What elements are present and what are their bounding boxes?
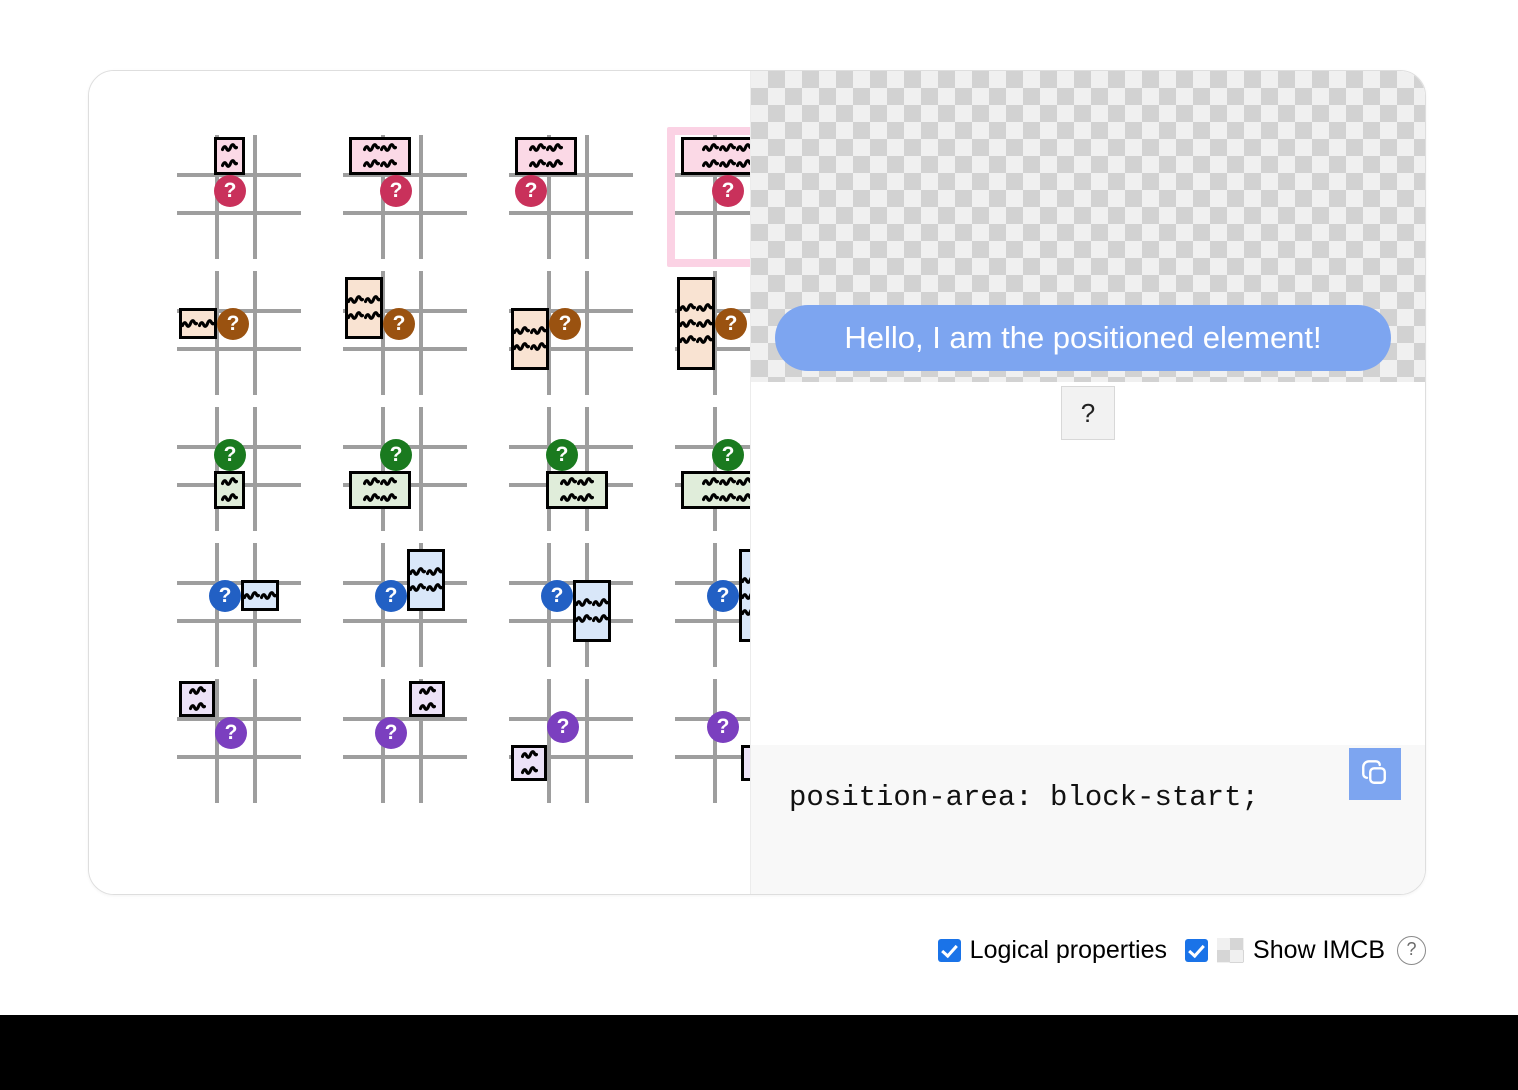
position-area-option-block-start-inline-end[interactable]: ? bbox=[329, 673, 495, 809]
preview-pane: Hello, I am the positioned element! ? po… bbox=[750, 71, 1426, 894]
option-anchor-marker: ? bbox=[707, 711, 739, 743]
option-anchor-marker: ? bbox=[515, 175, 547, 207]
option-thumbnail[interactable]: ? bbox=[509, 135, 633, 259]
anchor-element[interactable]: ? bbox=[1061, 386, 1115, 440]
option-positioned-box bbox=[345, 277, 383, 339]
option-thumbnail[interactable]: ? bbox=[343, 543, 467, 667]
option-anchor-marker: ? bbox=[707, 580, 739, 612]
code-output-area: position-area: block-start; bbox=[751, 745, 1426, 894]
position-area-option-block-start-center[interactable]: ? bbox=[329, 129, 495, 265]
position-area-option-block-end-inline-start[interactable]: ? bbox=[495, 673, 661, 809]
option-thumbnail[interactable]: ? bbox=[177, 407, 301, 531]
option-positioned-box bbox=[214, 137, 245, 175]
logical-properties-checkbox[interactable] bbox=[938, 939, 961, 962]
position-area-option-block-end-span-x-end[interactable]: ? bbox=[495, 401, 661, 537]
option-thumbnail[interactable]: ? bbox=[343, 135, 467, 259]
option-thumbnail[interactable]: ? bbox=[177, 543, 301, 667]
option-anchor-marker: ? bbox=[383, 308, 415, 340]
position-area-visualizer-card: ???????????????????? Hello, I am the pos… bbox=[88, 70, 1426, 895]
option-positioned-box bbox=[573, 580, 611, 642]
option-thumbnail[interactable]: ? bbox=[177, 135, 301, 259]
option-anchor-marker: ? bbox=[215, 717, 247, 749]
show-imcb-checkbox[interactable] bbox=[1185, 939, 1208, 962]
position-area-option-block-start-inline-start[interactable]: ? bbox=[163, 673, 329, 809]
position-area-option-block-end-span-x-start[interactable]: ? bbox=[163, 401, 329, 537]
option-anchor-marker: ? bbox=[214, 439, 246, 471]
option-positioned-box bbox=[214, 471, 245, 509]
option-anchor-marker: ? bbox=[712, 439, 744, 471]
option-anchor-marker: ? bbox=[546, 439, 578, 471]
option-anchor-marker: ? bbox=[712, 175, 744, 207]
option-positioned-box bbox=[677, 277, 715, 370]
option-anchor-marker: ? bbox=[375, 580, 407, 612]
position-area-option-block-start-span-x-start[interactable]: ? bbox=[163, 129, 329, 265]
option-thumbnail[interactable]: ? bbox=[343, 679, 467, 803]
position-area-option-block-end-center[interactable]: ? bbox=[329, 401, 495, 537]
position-area-option-inline-end-span-y-start[interactable]: ? bbox=[163, 537, 329, 673]
positioned-element: Hello, I am the positioned element! bbox=[775, 305, 1391, 371]
position-area-option-block-start-span-x-end[interactable]: ? bbox=[495, 129, 661, 265]
option-thumbnail[interactable]: ? bbox=[177, 271, 301, 395]
show-imcb-label: Show IMCB bbox=[1253, 936, 1385, 965]
option-positioned-box bbox=[546, 471, 608, 509]
logical-properties-label: Logical properties bbox=[970, 936, 1167, 965]
show-imcb-control[interactable]: Show IMCB bbox=[1185, 936, 1385, 965]
option-thumbnail[interactable]: ? bbox=[343, 407, 467, 531]
help-icon[interactable]: ? bbox=[1397, 936, 1426, 965]
option-thumbnail[interactable]: ? bbox=[509, 407, 633, 531]
option-thumbnail[interactable]: ? bbox=[177, 679, 301, 803]
position-area-option-inline-start-span-y-end[interactable]: ? bbox=[495, 265, 661, 401]
position-area-option-inline-start-span-y-start[interactable]: ? bbox=[163, 265, 329, 401]
position-area-option-inline-end-center[interactable]: ? bbox=[329, 537, 495, 673]
option-positioned-box bbox=[511, 745, 547, 781]
option-anchor-marker: ? bbox=[715, 308, 747, 340]
option-anchor-marker: ? bbox=[209, 580, 241, 612]
option-anchor-marker: ? bbox=[380, 439, 412, 471]
option-anchor-marker: ? bbox=[375, 717, 407, 749]
footer-controls: Logical properties Show IMCB ? bbox=[88, 925, 1426, 975]
option-positioned-box bbox=[511, 308, 549, 370]
option-positioned-box bbox=[179, 681, 215, 717]
copy-button[interactable] bbox=[1349, 748, 1401, 800]
position-area-option-inline-start-center[interactable]: ? bbox=[329, 265, 495, 401]
option-positioned-box bbox=[349, 471, 411, 509]
option-anchor-marker: ? bbox=[541, 580, 573, 612]
css-declaration-text: position-area: block-start; bbox=[789, 781, 1259, 814]
option-anchor-marker: ? bbox=[549, 308, 581, 340]
position-area-option-inline-end-span-y-end[interactable]: ? bbox=[495, 537, 661, 673]
option-anchor-marker: ? bbox=[217, 308, 249, 340]
option-positioned-box bbox=[515, 137, 577, 175]
option-anchor-marker: ? bbox=[380, 175, 412, 207]
logical-properties-control[interactable]: Logical properties bbox=[938, 936, 1167, 965]
bottom-band bbox=[0, 1015, 1518, 1090]
position-area-grid-pane: ???????????????????? bbox=[89, 71, 750, 894]
option-thumbnail[interactable]: ? bbox=[343, 271, 467, 395]
option-positioned-box bbox=[407, 549, 445, 611]
copy-icon bbox=[1360, 758, 1390, 791]
option-thumbnail[interactable]: ? bbox=[509, 679, 633, 803]
position-area-option-matrix: ???????????????????? bbox=[163, 129, 827, 809]
option-positioned-box bbox=[241, 580, 279, 611]
option-anchor-marker: ? bbox=[547, 711, 579, 743]
option-positioned-box bbox=[409, 681, 445, 717]
option-positioned-box bbox=[179, 308, 217, 339]
option-thumbnail[interactable]: ? bbox=[509, 271, 633, 395]
checkerboard-swatch-icon bbox=[1217, 938, 1244, 963]
option-thumbnail[interactable]: ? bbox=[509, 543, 633, 667]
option-positioned-box bbox=[349, 137, 411, 175]
option-anchor-marker: ? bbox=[214, 175, 246, 207]
